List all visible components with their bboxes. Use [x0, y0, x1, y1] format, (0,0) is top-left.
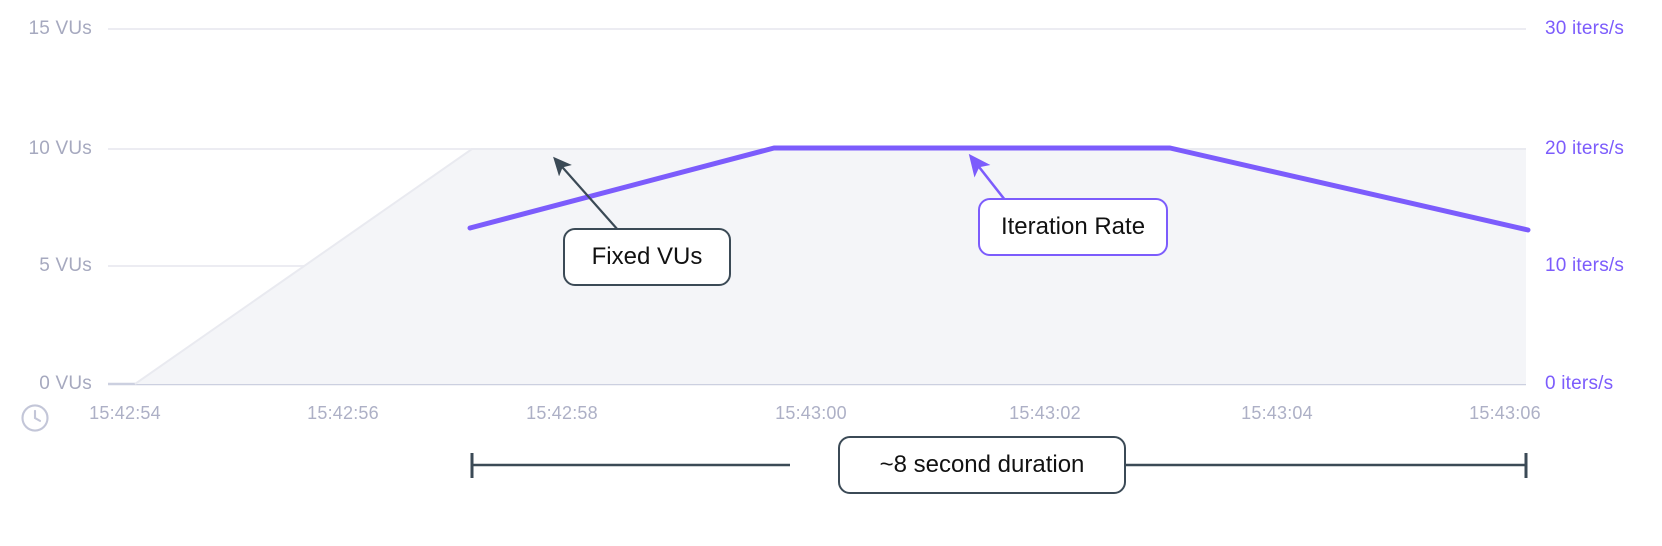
y-axis-left-tick-15: 15 VUs [0, 18, 92, 40]
x-axis-tick-1: 15:42:56 [307, 403, 379, 424]
y-axis-right-tick-10: 10 iters/s [1545, 255, 1624, 277]
x-axis-tick-4: 15:43:02 [1009, 403, 1081, 424]
chart-canvas [0, 0, 1662, 546]
annotation-iteration-rate: Iteration Rate [978, 198, 1168, 256]
y-axis-left-tick-0: 0 VUs [0, 373, 92, 395]
clock-icon [20, 403, 50, 433]
x-axis-tick-2: 15:42:58 [526, 403, 598, 424]
annotation-duration: ~8 second duration [838, 436, 1126, 494]
y-axis-right-tick-30: 30 iters/s [1545, 18, 1624, 40]
y-axis-left-tick-10: 10 VUs [0, 138, 92, 160]
x-axis-tick-6: 15:43:06 [1469, 403, 1541, 424]
x-axis-tick-0: 15:42:54 [89, 403, 161, 424]
x-axis-tick-5: 15:43:04 [1241, 403, 1313, 424]
y-axis-right-tick-0: 0 iters/s [1545, 373, 1613, 395]
y-axis-right-tick-20: 20 iters/s [1545, 138, 1624, 160]
vus-iteration-rate-chart: 15 VUs 10 VUs 5 VUs 0 VUs 30 iters/s 20 … [0, 0, 1662, 546]
x-axis-tick-3: 15:43:00 [775, 403, 847, 424]
y-axis-left-tick-5: 5 VUs [0, 255, 92, 277]
annotation-fixed-vus: Fixed VUs [563, 228, 731, 286]
